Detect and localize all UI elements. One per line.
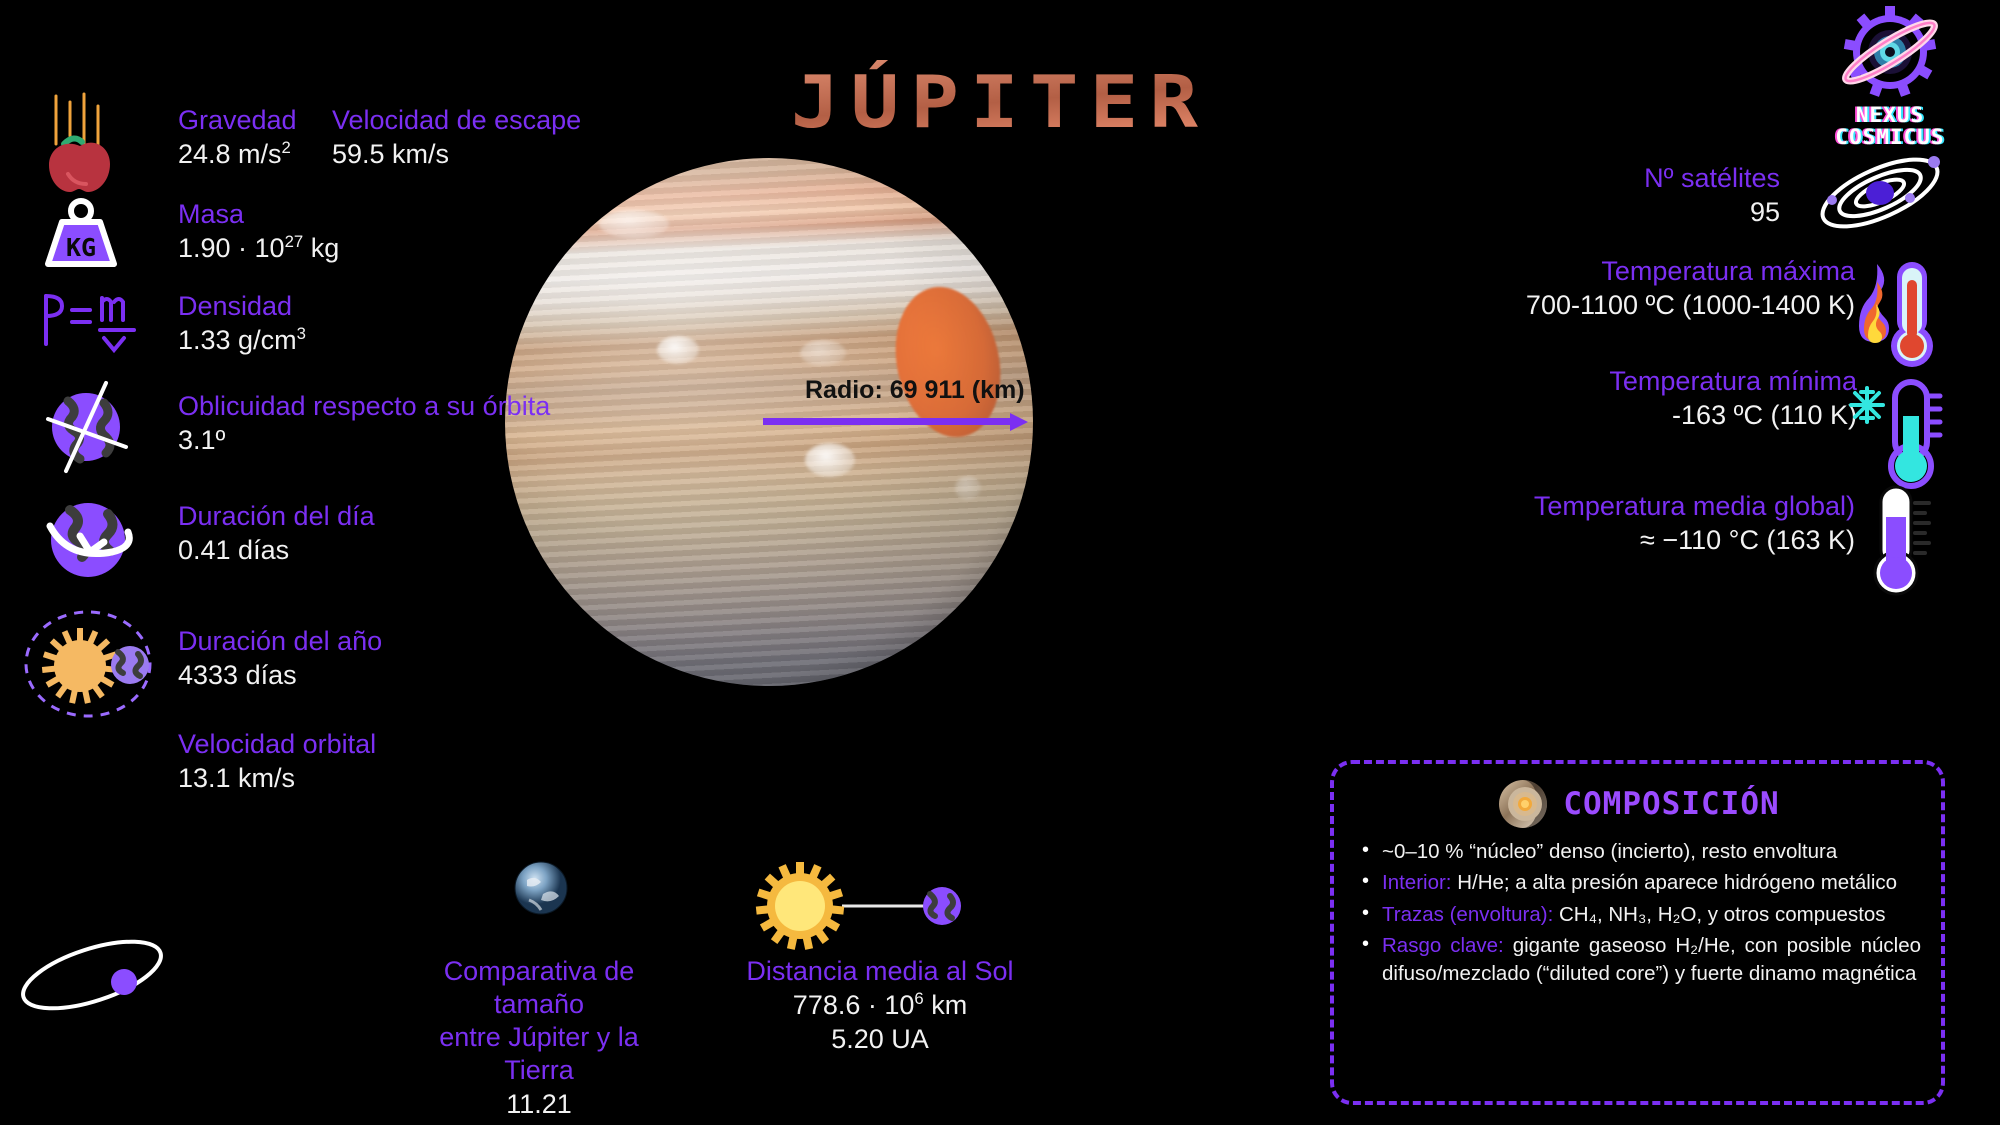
satellites-orbits-icon — [1810, 148, 1950, 238]
rotating-planet-icon — [38, 490, 138, 590]
sun-orbit-icon — [22, 608, 162, 720]
tilted-planet-icon — [38, 375, 138, 475]
stat-value: 13.1 km/s — [178, 761, 376, 795]
stat-duracion-ano: Duración del año 4333 días — [178, 625, 382, 692]
stat-value: 95 — [1644, 195, 1780, 229]
sun-distance-mantissa: 778.6 · 10 — [793, 990, 915, 1020]
stat-value-exponent: 2 — [282, 138, 291, 157]
stat-value: 700-1100 ºC (1000-1400 K) — [1526, 288, 1855, 322]
composition-title: COMPOSICIÓN — [1563, 786, 1779, 822]
stat-value-unit: kg — [303, 233, 339, 263]
stat-value: 1.90 · 1027 kg — [178, 231, 339, 265]
composition-item-text: CH₄, NH₃, H₂O, y otros compuestos — [1553, 903, 1885, 926]
svg-text:KG: KG — [66, 233, 96, 262]
density-formula-icon — [38, 288, 138, 350]
stat-label: Masa — [178, 198, 339, 231]
logo-line-2: COSMICUS — [1835, 125, 1944, 149]
stat-temp-media: Temperatura media global) ≈ −110 °C (163… — [1534, 490, 1855, 557]
brand-logo: NEXUS COSMICUS — [1802, 6, 1978, 149]
stat-value: 1.33 g/cm3 — [178, 323, 306, 357]
stat-value: 59.5 km/s — [332, 137, 581, 171]
stat-satelites: Nº satélites 95 — [1644, 162, 1780, 229]
stat-value-text: 24.8 m/s — [178, 139, 282, 169]
stat-value-exponent: 3 — [297, 324, 306, 343]
composition-item-tag: Trazas (envoltura): — [1382, 903, 1553, 926]
gear-galaxy-icon — [1827, 6, 1953, 104]
infographic-canvas: JÚPITER — [0, 0, 2000, 1125]
size-comparison-caption-1: Comparativa de tamaño — [418, 955, 660, 1021]
stat-label: Gravedad — [178, 104, 297, 137]
composition-item-text: H/He; a alta presión aparece hidrógeno m… — [1452, 871, 1898, 894]
composition-item-text: ~0–10 % “núcleo” denso (incierto), resto… — [1382, 840, 1837, 863]
composition-item: Rasgo clave: gigante gaseoso H₂/He, con … — [1356, 932, 1921, 987]
hot-thermometer-icon — [1845, 258, 1941, 370]
sun-distance-block: Distancia media al Sol 778.6 · 106 km 5.… — [735, 955, 1025, 1056]
sun-distance-unit: km — [924, 990, 968, 1020]
stat-label: Velocidad orbital — [178, 728, 376, 761]
composition-item: Trazas (envoltura): CH₄, NH₃, H₂O, y otr… — [1356, 901, 1921, 928]
stat-value: 0.41 días — [178, 533, 375, 567]
kg-weight-icon: KG — [44, 198, 118, 270]
size-comparison-caption-2: entre Júpiter y la Tierra — [418, 1021, 660, 1087]
stat-velocidad-orbital: Velocidad orbital 13.1 km/s — [178, 728, 376, 795]
sun-earth-distance-icon — [750, 860, 965, 952]
stat-temp-maxima: Temperatura máxima 700-1100 ºC (1000-140… — [1526, 255, 1855, 322]
stat-label: Nº satélites — [1644, 162, 1780, 195]
composition-item-tag: Interior: — [1382, 871, 1452, 894]
stat-label: Duración del día — [178, 500, 375, 533]
stat-gravedad: Gravedad 24.8 m/s2 — [178, 104, 297, 171]
earth-photo-icon — [513, 860, 569, 916]
stat-value: 24.8 m/s2 — [178, 137, 297, 171]
stat-duracion-dia: Duración del día 0.41 días — [178, 500, 375, 567]
composition-header: COMPOSICIÓN — [1356, 776, 1921, 832]
stat-value: -163 ºC (110 K) — [1609, 398, 1857, 432]
stat-label: Velocidad de escape — [332, 104, 581, 137]
mean-thermometer-icon — [1843, 483, 1953, 598]
composition-item-tag: Rasgo clave: — [1382, 934, 1504, 957]
sun-distance-caption: Distancia media al Sol — [735, 955, 1025, 988]
stat-label: Temperatura máxima — [1526, 255, 1855, 288]
size-comparison-block: Comparativa de tamaño entre Júpiter y la… — [418, 955, 660, 1121]
composition-item: Interior: H/He; a alta presión aparece h… — [1356, 869, 1921, 896]
stat-label: Duración del año — [178, 625, 382, 658]
composition-item: ~0–10 % “núcleo” denso (incierto), resto… — [1356, 838, 1921, 865]
stat-oblicuidad: Oblicuidad respecto a su órbita 3.1º — [178, 390, 550, 457]
cold-thermometer-icon — [1845, 378, 1945, 490]
size-comparison-value: 11.21 — [418, 1087, 660, 1121]
stat-value-exponent: 27 — [285, 232, 304, 251]
stat-densidad: Densidad 1.33 g/cm3 — [178, 290, 306, 357]
planet-cutaway-icon — [1497, 778, 1549, 830]
stat-label: Temperatura media global) — [1534, 490, 1855, 523]
sun-distance-exponent: 6 — [914, 989, 923, 1008]
radius-arrow-icon — [763, 413, 1028, 427]
stat-masa: Masa 1.90 · 1027 kg — [178, 198, 339, 265]
jupiter-planet: Radio: 69 911 (km) — [505, 130, 1033, 720]
logo-line-1: NEXUS — [1856, 103, 1924, 127]
stat-label: Oblicuidad respecto a su órbita — [178, 390, 550, 423]
stat-velocidad-escape: Velocidad de escape 59.5 km/s — [332, 104, 581, 171]
stat-label: Temperatura mínima — [1609, 365, 1857, 398]
sun-distance-value-km: 778.6 · 106 km — [735, 988, 1025, 1022]
stat-value: 3.1º — [178, 423, 550, 457]
falling-apple-icon — [42, 92, 120, 184]
orbit-ellipse-icon — [14, 930, 184, 1020]
composition-panel: COMPOSICIÓN ~0–10 % “núcleo” denso (inci… — [1330, 760, 1945, 1105]
radius-label: Radio: 69 911 (km) — [805, 376, 1025, 405]
sun-distance-value-au: 5.20 UA — [735, 1022, 1025, 1056]
stat-value: ≈ −110 °C (163 K) — [1534, 523, 1855, 557]
composition-list: ~0–10 % “núcleo” denso (incierto), resto… — [1356, 838, 1921, 987]
stat-label: Densidad — [178, 290, 306, 323]
stat-value-text: 1.33 g/cm — [178, 325, 297, 355]
stat-temp-minima: Temperatura mínima -163 ºC (110 K) — [1609, 365, 1857, 432]
stat-value: 4333 días — [178, 658, 382, 692]
stat-value-mantissa: 1.90 · 10 — [178, 233, 285, 263]
